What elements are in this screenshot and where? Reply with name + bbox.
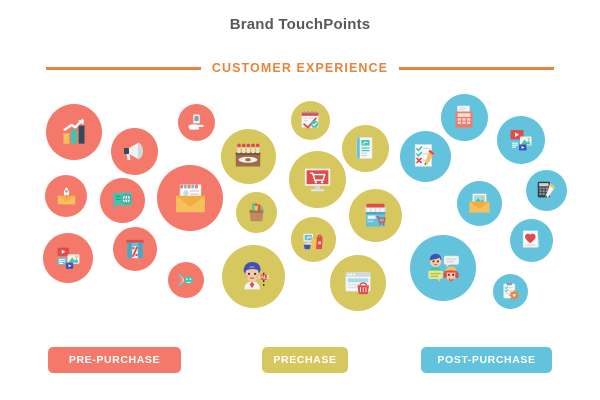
calendar-check-icon [300,110,320,130]
storefront-icon [124,238,146,260]
touchpoint-photo-envelope[interactable] [457,181,502,226]
open-envelope-icon [174,182,207,215]
touchpoint-globe-flag[interactable] [100,178,145,223]
touchpoint-clipboard-gear[interactable] [493,274,528,309]
shopping-bags-icon [302,228,325,251]
checklist-pencil-icon [412,143,438,169]
support-chat-icon [427,252,460,285]
grocery-bag-icon [246,202,267,223]
touchpoint-hand-mobile[interactable] [178,104,215,141]
touchpoint-brochure[interactable] [342,125,389,172]
touchpoint-web-basket[interactable] [330,255,386,311]
divider-line-left [46,67,201,70]
touchpoint-calendar-check[interactable] [291,101,330,140]
touchpoint-open-envelope[interactable] [157,165,223,231]
salesperson-icon: SALE [237,260,269,292]
touchpoint-checklist-pencil[interactable] [400,131,451,182]
stage-label-post-purchase[interactable]: POST-PURCHASE [421,347,552,373]
web-basket-icon [344,269,372,297]
touchpoint-shopping-bags[interactable] [291,217,336,262]
touchpoint-calculator-pen[interactable] [526,170,567,211]
rocket-email-icon [56,186,77,207]
touchpoint-payment-terminal[interactable] [441,94,488,141]
infographic-canvas: Brand TouchPoints CUSTOMER EXPERIENCE SA… [0,0,600,400]
touchpoint-rocket-email[interactable] [45,175,87,217]
touchpoint-network-nodes[interactable] [168,262,204,298]
touchpoint-heart-review[interactable] [510,219,553,262]
divider-line-right [399,67,554,70]
subtitle-banner: CUSTOMER EXPERIENCE [0,58,600,78]
clipboard-gear-icon [501,282,519,300]
touchpoint-megaphone[interactable] [111,128,158,175]
touchpoint-growth-chart[interactable] [46,104,102,160]
hand-mobile-icon [187,113,206,132]
touchpoint-salesperson[interactable]: SALE [222,245,285,308]
growth-chart-icon [60,118,88,146]
photo-envelope-icon [468,192,491,215]
video-media-icon [56,246,81,271]
online-cart-icon [303,165,332,194]
touchpoint-grocery-bag[interactable] [236,192,277,233]
calculator-pen-icon [536,180,557,201]
page-title: Brand TouchPoints [0,16,600,33]
megaphone-icon [122,139,146,163]
payment-terminal-icon [452,105,476,129]
touchpoint-support-chat[interactable] [410,235,476,301]
touchpoint-storefront[interactable] [113,227,157,271]
touchpoint-shop-stand[interactable] [349,189,402,242]
stage-label-pre-purchase[interactable]: PRE-PURCHASE [48,347,181,373]
globe-flag-icon [111,189,134,212]
heart-review-icon [520,229,542,251]
product-box-icon [234,142,262,170]
video-player-icon [509,128,533,152]
touchpoint-video-player[interactable] [497,116,545,164]
svg-text:SALE: SALE [258,275,269,280]
touchpoint-online-cart[interactable] [289,151,346,208]
stage-label-purchase[interactable]: PRECHASE [262,347,348,373]
subtitle-text: CUSTOMER EXPERIENCE [212,61,388,75]
brochure-icon [353,136,377,160]
shop-stand-icon [362,202,389,229]
touchpoint-video-media[interactable] [43,233,93,283]
touchpoint-product-box[interactable] [221,129,276,184]
network-nodes-icon [177,271,195,289]
